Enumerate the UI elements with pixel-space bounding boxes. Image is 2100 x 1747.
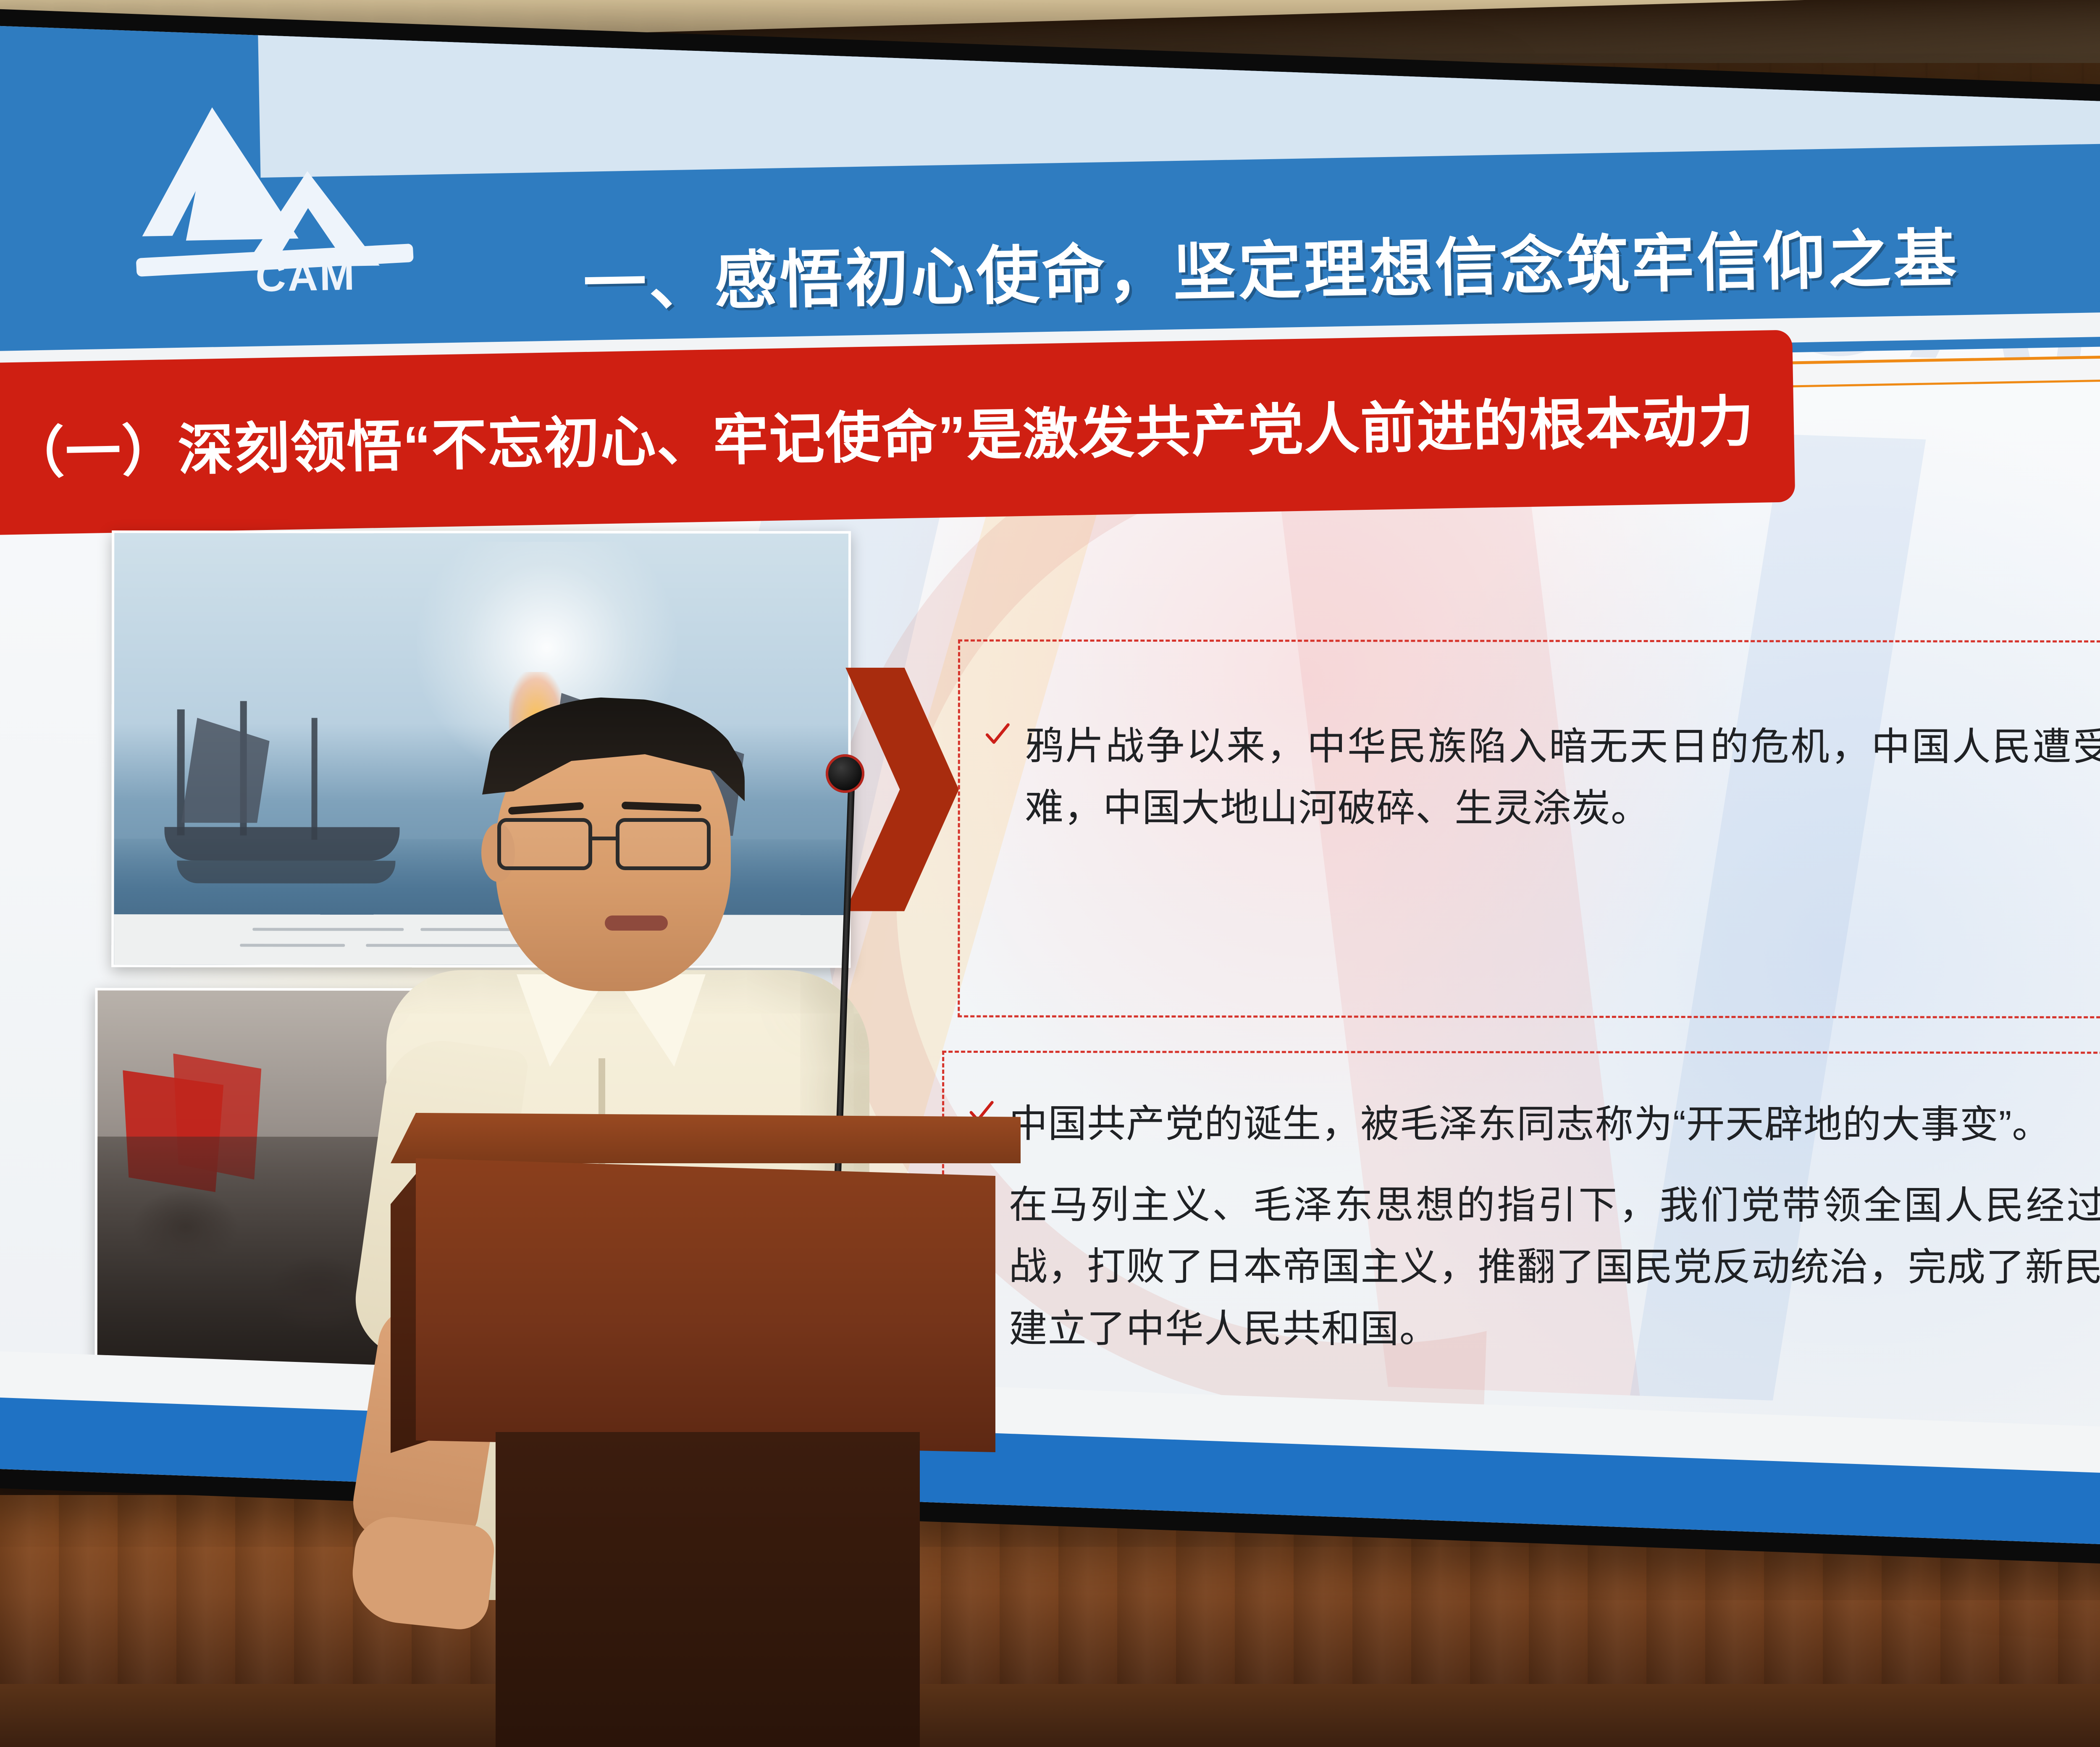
podium: [391, 1113, 1021, 1747]
ship-mast: [311, 718, 317, 840]
bullet-item: 中国共产党的诞生，被毛泽东同志称为“开天辟地的大事变”。: [969, 1093, 2100, 1156]
bullet-text: 鸦片战争以来，中华民族陷入暗无天日的危机，中国人民遭受前所未有的苦难，中国大地山…: [1025, 716, 2100, 840]
conference-hall-photo: CAM CAM 一、感悟初心使命，坚定理想信念筑牢信仰之基: [0, 0, 2100, 1747]
bullet-list-1: 鸦片战争以来，中华民族陷入暗无天日的危机，中国人民遭受前所未有的苦难，中国大地山…: [984, 716, 2100, 860]
projection-screen-frame: CAM CAM 一、感悟初心使命，坚定理想信念筑牢信仰之基: [0, 8, 2100, 1574]
svg-text:CAM: CAM: [255, 252, 357, 300]
bullet-list-2: 中国共产党的诞生，被毛泽东同志称为“开天辟地的大事变”。 在马列主义、毛泽东思想…: [969, 1093, 2100, 1380]
floor: [0, 1684, 2100, 1747]
cam-mountain-logo-icon: CAM: [124, 88, 448, 329]
bullet-text: 中国共产党的诞生，被毛泽东同志称为“开天辟地的大事变”。: [1009, 1093, 2051, 1156]
mouth: [605, 915, 668, 931]
bullet-item: 鸦片战争以来，中华民族陷入暗无天日的危机，中国人民遭受前所未有的苦难，中国大地山…: [984, 716, 2100, 840]
podium-base: [496, 1432, 920, 1747]
slide-subtitle-banner: （一）深刻领悟“不忘初心、牢记使命”是激发共产党人前进的根本动力: [0, 330, 1795, 536]
ship-sail: [181, 718, 270, 823]
podium-front-panel: [416, 1158, 995, 1452]
microphone-head-icon: [826, 754, 864, 793]
projected-slide: CAM CAM 一、感悟初心使命，坚定理想信念筑牢信仰之基: [0, 26, 2100, 1553]
rowboat: [177, 860, 395, 883]
bullet-text: 在马列主义、毛泽东思想的指引下，我们党带领全国人民经过 28 年浴血奋战，打败了…: [1009, 1174, 2100, 1361]
glasses-icon: [490, 815, 742, 873]
bullet-item: 在马列主义、毛泽东思想的指引下，我们党带领全国人民经过 28 年浴血奋战，打败了…: [969, 1174, 2100, 1361]
podium-top-surface: [391, 1113, 1021, 1163]
slide-subtitle-text: （一）深刻领悟“不忘初心、牢记使命”是激发共产党人前进的根本动力: [8, 377, 1755, 489]
ship-hull: [164, 827, 399, 860]
